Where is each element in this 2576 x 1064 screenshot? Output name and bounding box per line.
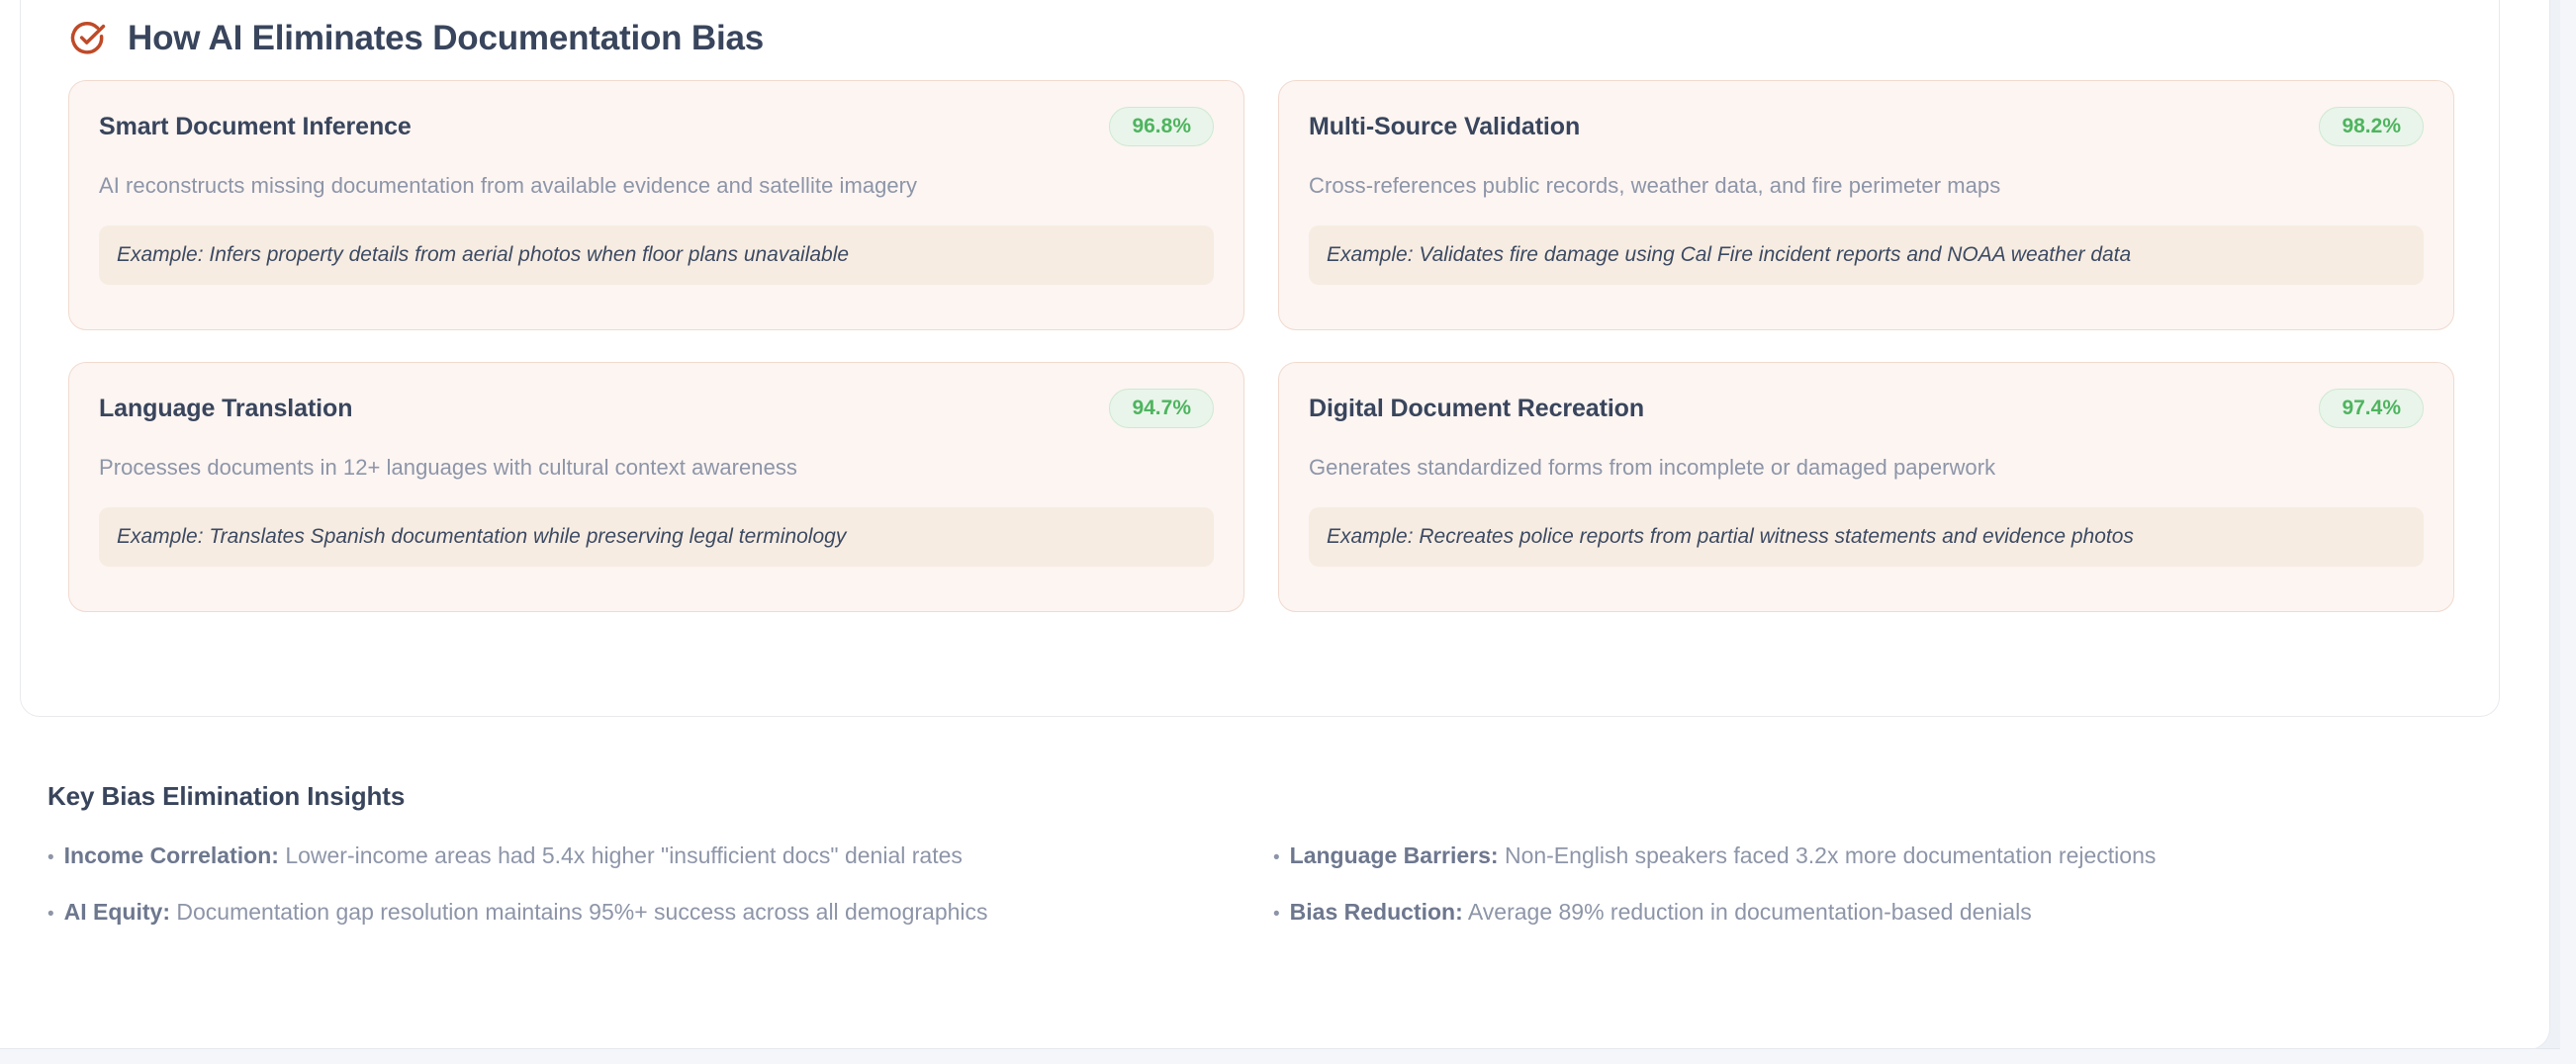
bullet-icon: • <box>1273 848 1280 867</box>
capability-card-smart-document-inference[interactable]: Smart Document Inference 96.8% AI recons… <box>68 80 1244 330</box>
capability-title: Smart Document Inference <box>99 113 412 141</box>
accuracy-badge: 97.4% <box>2319 389 2424 428</box>
insight-body: Bias Reduction: Average 89% reduction in… <box>1290 898 2032 928</box>
bullet-icon: • <box>1273 905 1280 924</box>
capability-example: Example: Recreates police reports from p… <box>1309 507 2424 567</box>
insight-label: Income Correlation: <box>64 842 279 868</box>
insight-body: AI Equity: Documentation gap resolution … <box>64 898 988 928</box>
capability-card-header: Smart Document Inference 96.8% <box>99 107 1214 146</box>
capability-card-multi-source-validation[interactable]: Multi-Source Validation 98.2% Cross-refe… <box>1278 80 2454 330</box>
capability-example: Example: Validates fire damage using Cal… <box>1309 225 2424 285</box>
capability-description: AI reconstructs missing documentation fr… <box>99 171 1214 201</box>
check-circle-icon <box>68 20 106 57</box>
ai-bias-panel: How AI Eliminates Documentation Bias Sma… <box>20 0 2500 717</box>
below-surface-fill <box>0 1049 2576 1064</box>
insight-value: Non-English speakers faced 3.2x more doc… <box>1505 842 2156 868</box>
insight-item-income-correlation: • Income Correlation: Lower-income areas… <box>47 842 1245 871</box>
insights-title: Key Bias Elimination Insights <box>47 781 2471 812</box>
panel-header: How AI Eliminates Documentation Bias <box>68 19 764 58</box>
insight-body: Language Barriers: Non-English speakers … <box>1290 842 2157 871</box>
capability-card-header: Digital Document Recreation 97.4% <box>1309 389 2424 428</box>
capability-card-digital-document-recreation[interactable]: Digital Document Recreation 97.4% Genera… <box>1278 362 2454 612</box>
accuracy-badge: 98.2% <box>2319 107 2424 146</box>
bullet-icon: • <box>47 848 54 867</box>
accuracy-badge: 96.8% <box>1109 107 1214 146</box>
insight-value: Lower-income areas had 5.4x higher "insu… <box>285 842 963 868</box>
insights-grid: • Income Correlation: Lower-income areas… <box>47 842 2471 928</box>
capability-example: Example: Infers property details from ae… <box>99 225 1214 285</box>
accuracy-badge: 94.7% <box>1109 389 1214 428</box>
capability-description: Processes documents in 12+ languages wit… <box>99 453 1214 483</box>
insight-label: Bias Reduction: <box>1290 899 1463 925</box>
insight-label: Language Barriers: <box>1290 842 1499 868</box>
insight-value: Average 89% reduction in documentation-b… <box>1468 899 2032 925</box>
capability-title: Language Translation <box>99 395 352 423</box>
insight-item-bias-reduction: • Bias Reduction: Average 89% reduction … <box>1273 898 2471 928</box>
insight-item-ai-equity: • AI Equity: Documentation gap resolutio… <box>47 898 1245 928</box>
insight-body: Income Correlation: Lower-income areas h… <box>64 842 963 871</box>
insight-item-language-barriers: • Language Barriers: Non-English speaker… <box>1273 842 2471 871</box>
insight-label: AI Equity: <box>64 899 170 925</box>
key-insights-section: Key Bias Elimination Insights • Income C… <box>47 781 2471 928</box>
bullet-icon: • <box>47 905 54 924</box>
capability-description: Cross-references public records, weather… <box>1309 171 2424 201</box>
capability-card-grid: Smart Document Inference 96.8% AI recons… <box>68 80 2454 612</box>
capability-card-header: Multi-Source Validation 98.2% <box>1309 107 2424 146</box>
capability-title: Multi-Source Validation <box>1309 113 1580 141</box>
capability-card-language-translation[interactable]: Language Translation 94.7% Processes doc… <box>68 362 1244 612</box>
capability-description: Generates standardized forms from incomp… <box>1309 453 2424 483</box>
capability-example: Example: Translates Spanish documentatio… <box>99 507 1214 567</box>
insight-value: Documentation gap resolution maintains 9… <box>176 899 987 925</box>
page-title: How AI Eliminates Documentation Bias <box>128 19 764 58</box>
capability-title: Digital Document Recreation <box>1309 395 1644 423</box>
right-gutter <box>2560 0 2576 1064</box>
capability-card-header: Language Translation 94.7% <box>99 389 1214 428</box>
